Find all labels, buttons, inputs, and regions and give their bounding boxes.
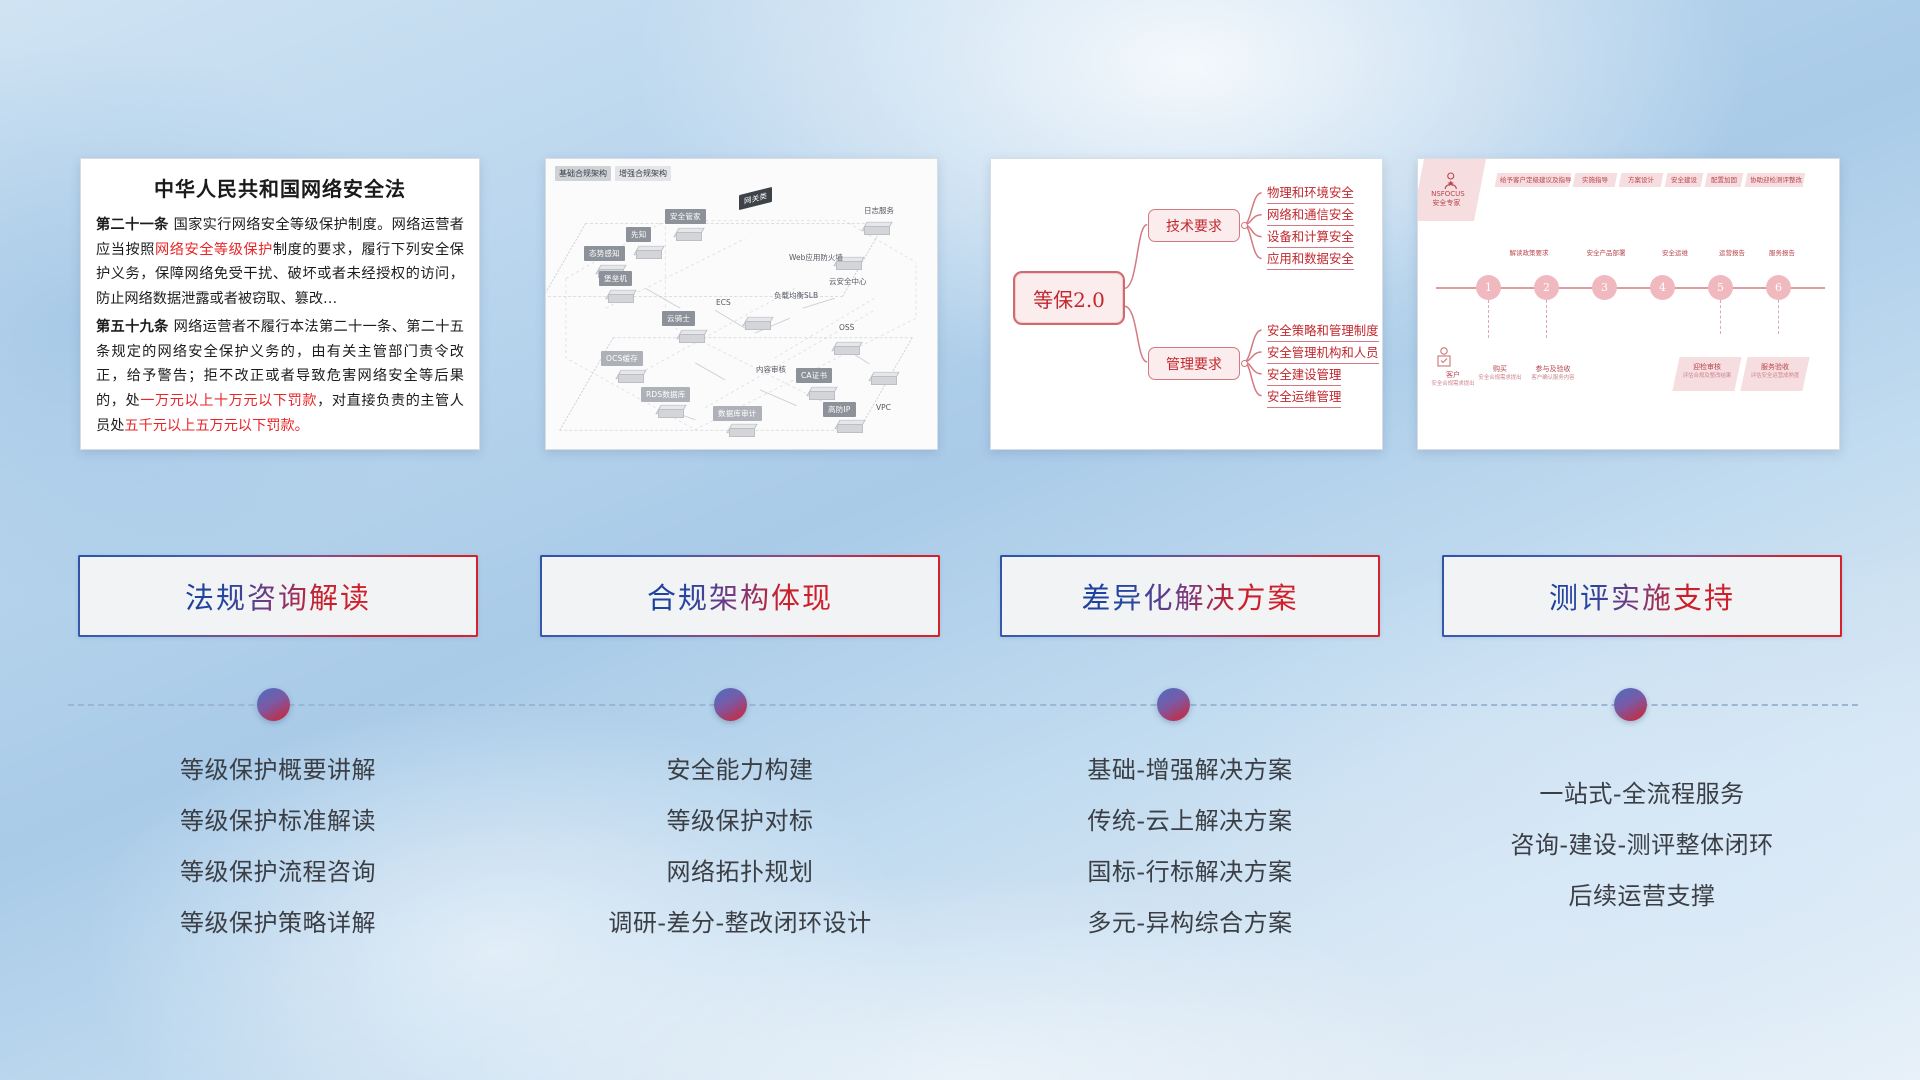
architecture-label: 负载均衡SLB	[774, 290, 818, 301]
button-compliance-architecture[interactable]: 合规架构体现	[540, 555, 940, 637]
button-label: 差异化解决方案	[1081, 575, 1298, 617]
list-item: 咨询-建设-测评整体闭环	[1442, 833, 1842, 857]
timeline-dot-4[interactable]	[1614, 688, 1647, 721]
architecture-icon	[809, 384, 835, 399]
architecture-node: RDS数据库	[641, 387, 690, 402]
mindmap-branch-management: 管理要求	[1148, 347, 1240, 380]
nsfocus-chip: 实施指导	[1573, 173, 1618, 187]
architecture-tab-basic[interactable]: 基础合规架构	[555, 166, 611, 181]
list-item: 等级保护标准解读	[78, 809, 478, 833]
nsfocus-chip: 方案设计	[1619, 173, 1664, 187]
architecture-diagram: 基础合规架构 增强合规架构	[546, 159, 937, 449]
nsfocus-tick	[1546, 300, 1547, 338]
architecture-icon	[864, 219, 890, 234]
cards-row: 中华人民共和国网络安全法 第二十一条 国家实行网络安全等级保护制度。网络运营者应…	[0, 0, 1920, 460]
mindmap-collapse-dot[interactable]	[1241, 222, 1248, 229]
architecture-icon	[618, 367, 644, 382]
architecture-icon	[834, 339, 860, 354]
nsfocus-footer: 服务验收 评估安全运营成熟度	[1744, 363, 1806, 380]
button-label: 法规咨询解读	[185, 575, 371, 617]
mindmap-leaf: 设备和计算安全	[1267, 227, 1354, 248]
law-run-highlight: 五千元以上五万元以下罚款。	[124, 418, 308, 434]
architecture-icon	[729, 421, 755, 436]
law-article-label-1: 第二十一条	[96, 217, 169, 233]
nsfocus-footer-title: 迎检审核	[1676, 363, 1738, 373]
mindmap: 等保2.0 技术要求 物理和环境安全 网络和通信安全 设备和计算安全 应用和数据…	[991, 159, 1382, 449]
nsfocus-step: 3	[1592, 275, 1617, 300]
architecture-node: 数据库审计	[713, 406, 762, 421]
law-title: 中华人民共和国网络安全法	[96, 173, 464, 202]
nsfocus-phase: 运营报告	[1704, 247, 1760, 257]
list-item: 等级保护概要讲解	[78, 758, 478, 782]
nsfocus-step: 5	[1708, 275, 1733, 300]
nsfocus-footer-title: 参与及验收	[1524, 365, 1582, 375]
law-run-highlight: 一万元以上十万元以下罚款	[140, 393, 317, 409]
nsfocus-chip: 配置加固	[1705, 173, 1744, 187]
law-paragraph-2: 第五十九条 网络运营者不履行本法第二十一条、第二十五条规定的网络安全保护义务的，…	[96, 315, 464, 439]
nsfocus-footer-sub: 安全合规需求提出	[1426, 381, 1480, 389]
button-regulation-consulting[interactable]: 法规咨询解读	[78, 555, 478, 637]
list-item: 多元-异构综合方案	[1000, 911, 1380, 935]
architecture-icon	[676, 225, 702, 240]
nsfocus-footer-sub: 客户确认服务内容	[1524, 375, 1582, 383]
expert-name: NSFOCUS	[1431, 190, 1465, 199]
button-label: 测评实施支持	[1549, 575, 1735, 617]
mindmap-branch-technical: 技术要求	[1148, 209, 1240, 242]
list-item: 网络拓扑规划	[540, 860, 940, 884]
nsfocus-footer: 参与及验收 客户确认服务内容	[1524, 365, 1582, 382]
list-differentiated-solution: 基础-增强解决方案 传统-云上解决方案 国标-行标解决方案 多元-异构综合方案	[1000, 758, 1380, 962]
architecture-node: 云骑士	[662, 311, 695, 326]
nsfocus-timeline: NSFOCUS 安全专家 给予客户定级建议及指导 实施指导 方案设计 安全建设 …	[1418, 159, 1839, 449]
nsfocus-footer: 购买 安全合规需求提出	[1476, 365, 1524, 382]
architecture-label: Web应用防火墙	[789, 252, 843, 263]
architecture-label: 日志服务	[864, 205, 894, 216]
card-mindmap[interactable]: 等保2.0 技术要求 物理和环境安全 网络和通信安全 设备和计算安全 应用和数据…	[990, 158, 1383, 450]
list-item: 安全能力构建	[540, 758, 940, 782]
nsfocus-footer-title: 服务验收	[1744, 363, 1806, 373]
nsfocus-footer-title: 购买	[1476, 365, 1524, 375]
nsfocus-chip: 给予客户定级建议及指导	[1495, 173, 1572, 187]
list-item: 基础-增强解决方案	[1000, 758, 1380, 782]
architecture-tabs: 基础合规架构 增强合规架构	[555, 166, 671, 181]
mindmap-leaf: 安全策略和管理制度	[1267, 321, 1379, 342]
nsfocus-phase: 服务报告	[1756, 247, 1808, 257]
nsfocus-phase: 解读政策要求	[1488, 247, 1570, 257]
law-article-label-2: 第五十九条	[96, 319, 169, 335]
law-document: 中华人民共和国网络安全法 第二十一条 国家实行网络安全等级保护制度。网络运营者应…	[81, 159, 479, 438]
timeline-track	[68, 704, 1858, 706]
mindmap-leaf: 网络和通信安全	[1267, 205, 1354, 226]
architecture-node: OCS缓存	[601, 351, 643, 366]
timeline-dot-1[interactable]	[257, 688, 290, 721]
architecture-node: 堡垒机	[599, 271, 632, 286]
button-label: 合规架构体现	[647, 575, 833, 617]
nsfocus-tick	[1778, 300, 1779, 334]
nsfocus-phase: 安全产品部署	[1568, 247, 1644, 257]
mindmap-root: 等保2.0	[1013, 271, 1125, 325]
nsfocus-step: 2	[1534, 275, 1559, 300]
nsfocus-tick	[1488, 300, 1489, 338]
expert-person-icon	[1443, 172, 1459, 190]
mindmap-leaf: 安全管理机构和人员	[1267, 343, 1379, 364]
nsfocus-phase: 安全运维	[1644, 247, 1706, 257]
list-item: 后续运营支撑	[1442, 884, 1842, 908]
button-assessment-support[interactable]: 测评实施支持	[1442, 555, 1842, 637]
list-item: 等级保护流程咨询	[78, 860, 478, 884]
architecture-node: 先知	[626, 227, 651, 242]
architecture-node: CA证书	[796, 368, 832, 383]
nsfocus-footer-sub: 安全合规需求提出	[1476, 375, 1524, 383]
timeline-dot-2[interactable]	[714, 688, 747, 721]
architecture-label: ECS	[716, 298, 731, 307]
list-item: 调研-差分-整改闭环设计	[540, 911, 940, 935]
nsfocus-tick	[1720, 300, 1721, 334]
customer-person-icon	[1436, 347, 1452, 367]
nsfocus-footer-title: 客户	[1426, 371, 1480, 381]
nsfocus-chip: 协助迎检测评整改	[1745, 173, 1806, 187]
architecture-label: 内容审核	[756, 364, 786, 375]
architecture-icon	[745, 314, 771, 329]
nsfocus-customer-icon	[1436, 347, 1452, 372]
architecture-icon	[608, 287, 634, 302]
mindmap-leaf: 应用和数据安全	[1267, 249, 1354, 270]
nsfocus-footer: 迎检审核 评估合规及整改结果	[1676, 363, 1738, 380]
nsfocus-chip: 安全建设	[1665, 173, 1704, 187]
nsfocus-footer: 客户 安全合规需求提出	[1426, 371, 1480, 388]
architecture-tab-enhanced[interactable]: 增强合规架构	[615, 166, 671, 181]
card-law-document[interactable]: 中华人民共和国网络安全法 第二十一条 国家实行网络安全等级保护制度。网络运营者应…	[80, 158, 480, 450]
architecture-node: 高防IP	[823, 402, 856, 417]
nsfocus-expert-badge: NSFOCUS 安全专家	[1417, 159, 1486, 221]
list-item: 国标-行标解决方案	[1000, 860, 1380, 884]
list-regulation-consulting: 等级保护概要讲解 等级保护标准解读 等级保护流程咨询 等级保护策略详解	[78, 758, 478, 962]
architecture-icon	[871, 369, 897, 384]
architecture-icon	[679, 327, 705, 342]
architecture-label: OSS	[839, 323, 854, 332]
law-paragraph-1: 第二十一条 国家实行网络安全等级保护制度。网络运营者应当按照网络安全等级保护制度…	[96, 213, 464, 312]
page-root: 中华人民共和国网络安全法 第二十一条 国家实行网络安全等级保护制度。网络运营者应…	[0, 0, 1920, 1080]
mindmap-leaf: 物理和环境安全	[1267, 183, 1354, 204]
architecture-label: 云安全中心	[829, 276, 867, 287]
mindmap-collapse-dot[interactable]	[1241, 360, 1248, 367]
nsfocus-step: 4	[1650, 275, 1675, 300]
architecture-icon	[837, 417, 863, 432]
nsfocus-footer-sub: 评估合规及整改结果	[1676, 373, 1738, 381]
nsfocus-step: 6	[1766, 275, 1791, 300]
architecture-node: 安全管家	[665, 209, 706, 224]
button-differentiated-solution[interactable]: 差异化解决方案	[1000, 555, 1380, 637]
nsfocus-footer-sub: 评估安全运营成熟度	[1744, 373, 1806, 381]
mindmap-leaf: 安全建设管理	[1267, 365, 1341, 386]
card-architecture-diagram[interactable]: 基础合规架构 增强合规架构	[545, 158, 938, 450]
architecture-label: VPC	[876, 403, 891, 412]
mindmap-leaf: 安全运维管理	[1267, 387, 1341, 408]
list-item: 一站式-全流程服务	[1442, 782, 1842, 806]
list-assessment-support: 一站式-全流程服务 咨询-建设-测评整体闭环 后续运营支撑	[1442, 782, 1842, 935]
architecture-icon	[636, 243, 662, 258]
law-run-highlight: 网络安全等级保护	[155, 242, 273, 258]
list-item: 等级保护策略详解	[78, 911, 478, 935]
expert-role: 安全专家	[1432, 199, 1460, 208]
card-nsfocus-timeline[interactable]: NSFOCUS 安全专家 给予客户定级建议及指导 实施指导 方案设计 安全建设 …	[1417, 158, 1840, 450]
timeline-dot-3[interactable]	[1157, 688, 1190, 721]
architecture-icon	[658, 402, 684, 417]
list-compliance-architecture: 安全能力构建 等级保护对标 网络拓扑规划 调研-差分-整改闭环设计	[540, 758, 940, 962]
list-item: 等级保护对标	[540, 809, 940, 833]
list-item: 传统-云上解决方案	[1000, 809, 1380, 833]
architecture-node: 态势感知	[584, 246, 625, 261]
nsfocus-step: 1	[1476, 275, 1501, 300]
